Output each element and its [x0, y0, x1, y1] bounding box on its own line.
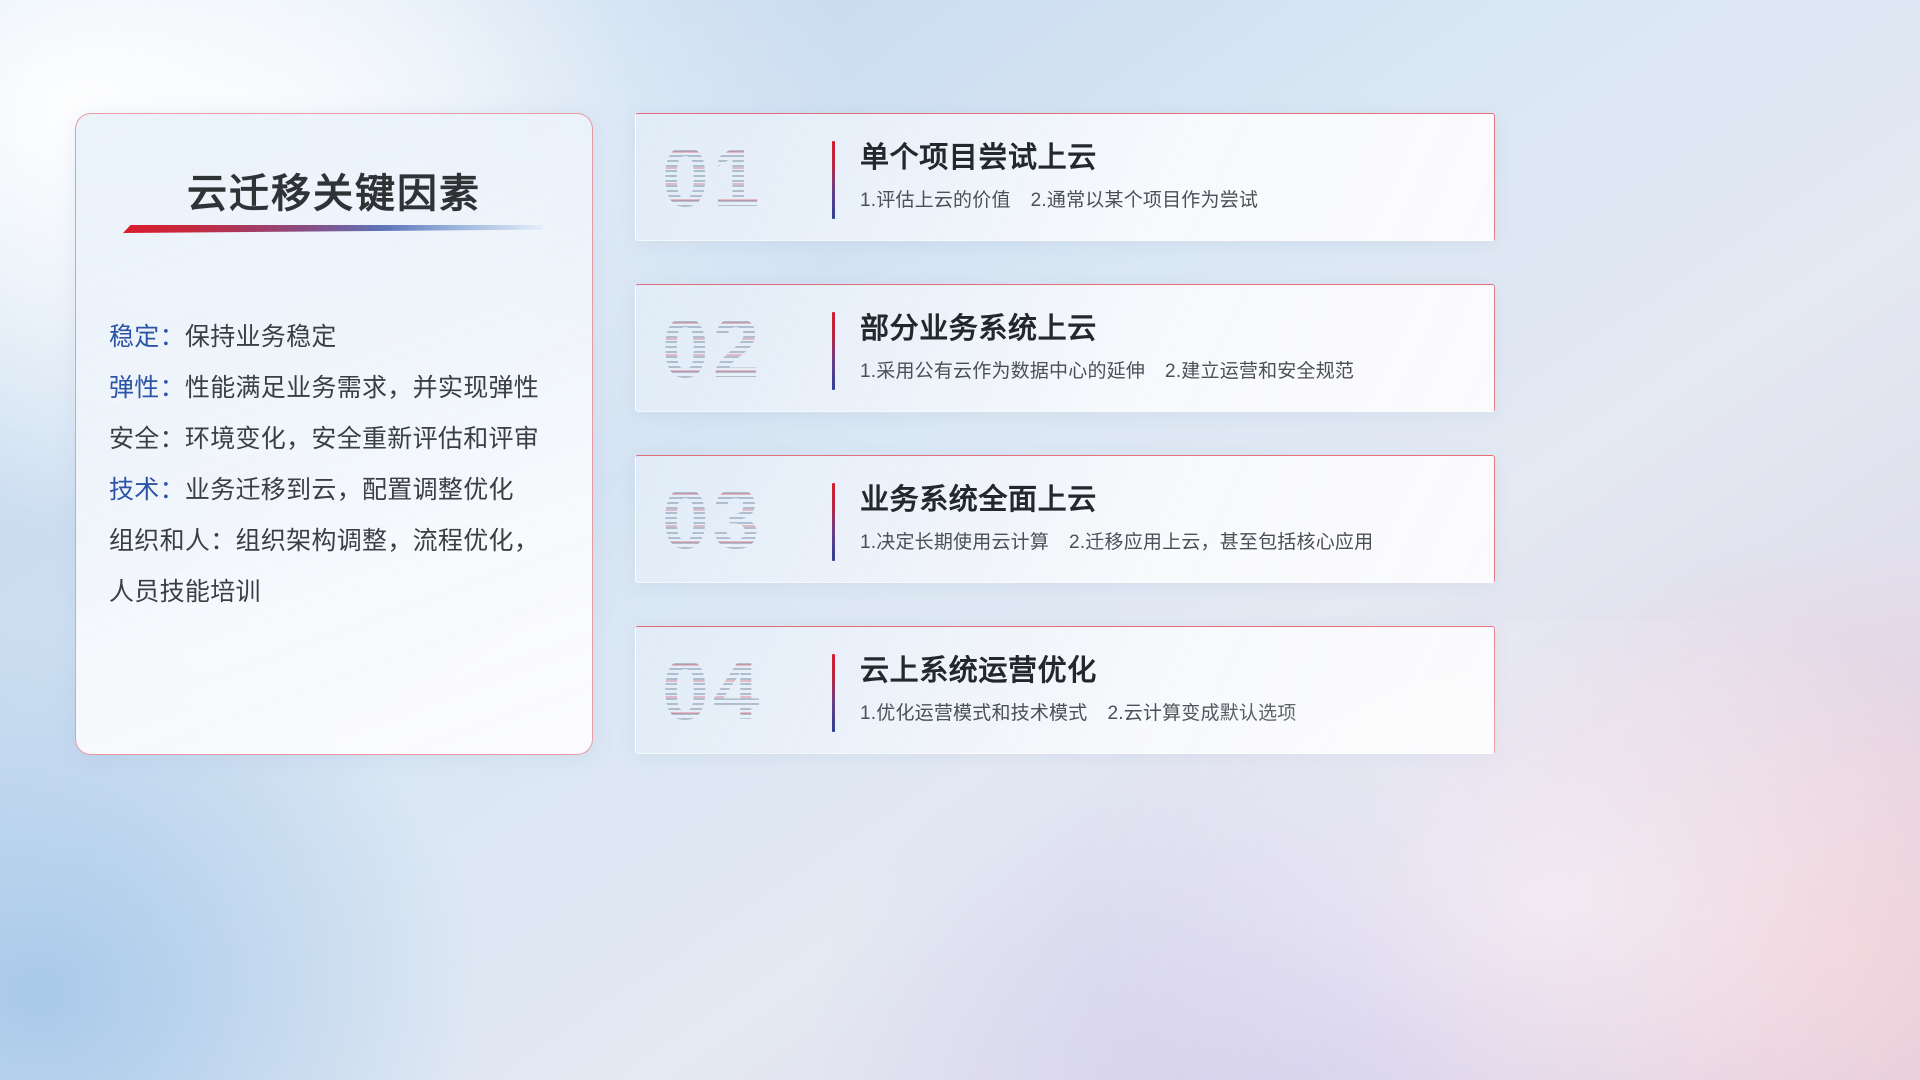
migration-step-card[interactable]: 0303业务系统全面上云1.决定长期使用云计算2.迁移应用上云，甚至包括核心应用 — [635, 455, 1495, 583]
step-detail-point-1: 1.采用公有云作为数据中心的延伸 — [860, 361, 1145, 382]
step-title: 部分业务系统上云 — [860, 309, 1474, 349]
migration-step-card[interactable]: 0404云上系统运营优化1.优化运营模式和技术模式2.云计算变成默认选项 — [635, 626, 1495, 754]
step-number-watermark-tint: 01 — [662, 135, 763, 219]
page-title: 云迁移关键因素 — [76, 161, 592, 219]
key-factor-line: 弹性：性能满足业务需求，并实现弹性 — [109, 363, 570, 414]
key-factors-list: 稳定：保持业务稳定弹性：性能满足业务需求，并实现弹性安全：环境变化，安全重新评估… — [109, 312, 570, 618]
title-underline-accent — [123, 225, 543, 233]
key-factor-line: 安全：环境变化，安全重新评估和评审 — [109, 414, 570, 465]
step-number-watermark: 03 — [662, 477, 763, 561]
step-divider-accent — [832, 141, 835, 219]
step-divider-accent — [832, 483, 835, 561]
key-factor-description: 环境变化，安全重新评估和评审 — [185, 425, 539, 453]
step-detail-line: 1.决定长期使用云计算2.迁移应用上云，甚至包括核心应用 — [860, 529, 1474, 556]
step-detail-line: 1.评估上云的价值2.通常以某个项目作为尝试 — [860, 187, 1474, 214]
step-text-block: 业务系统全面上云1.决定长期使用云计算2.迁移应用上云，甚至包括核心应用 — [860, 480, 1474, 556]
step-divider-accent — [832, 654, 835, 732]
step-text-block: 单个项目尝试上云1.评估上云的价值2.通常以某个项目作为尝试 — [860, 138, 1474, 214]
key-factors-panel: 云迁移关键因素 稳定：保持业务稳定弹性：性能满足业务需求，并实现弹性安全：环境变… — [75, 113, 593, 755]
step-number-watermark-tint: 03 — [662, 477, 763, 561]
migration-step-card[interactable]: 0101单个项目尝试上云1.评估上云的价值2.通常以某个项目作为尝试 — [635, 113, 1495, 241]
step-detail-point-2: 2.建立运营和安全规范 — [1165, 361, 1354, 382]
slide-canvas: 云迁移关键因素 稳定：保持业务稳定弹性：性能满足业务需求，并实现弹性安全：环境变… — [0, 0, 1920, 1080]
step-number-watermark-tint: 02 — [662, 306, 763, 390]
key-factor-line: 技术：业务迁移到云，配置调整优化 — [109, 465, 570, 516]
step-detail-point-2: 2.云计算变成默认选项 — [1107, 703, 1296, 724]
step-detail-line: 1.采用公有云作为数据中心的延伸2.建立运营和安全规范 — [860, 358, 1474, 385]
key-factor-label: 技术： — [109, 476, 185, 504]
step-number-watermark: 01 — [662, 135, 763, 219]
key-factor-description: 性能满足业务需求，并实现弹性 — [185, 374, 539, 402]
step-text-block: 部分业务系统上云1.采用公有云作为数据中心的延伸2.建立运营和安全规范 — [860, 309, 1474, 385]
step-number-watermark: 04 — [662, 648, 763, 732]
key-factor-description: 业务迁移到云，配置调整优化 — [185, 476, 514, 504]
key-factor-description: 人员技能培训 — [109, 578, 261, 606]
step-title: 云上系统运营优化 — [860, 651, 1474, 691]
key-factor-label: 弹性： — [109, 374, 185, 402]
migration-steps-list: 0101单个项目尝试上云1.评估上云的价值2.通常以某个项目作为尝试0202部分… — [635, 113, 1495, 754]
key-factor-line: 组织和人：组织架构调整，流程优化， — [109, 516, 570, 567]
step-detail-point-1: 1.评估上云的价值 — [860, 190, 1011, 211]
step-title: 单个项目尝试上云 — [860, 138, 1474, 178]
key-factor-line: 人员技能培训 — [109, 567, 570, 618]
key-factor-label: 组织和人： — [109, 527, 236, 555]
step-divider-accent — [832, 312, 835, 390]
step-detail-point-2: 2.迁移应用上云，甚至包括核心应用 — [1069, 532, 1373, 553]
step-text-block: 云上系统运营优化1.优化运营模式和技术模式2.云计算变成默认选项 — [860, 651, 1474, 727]
key-factor-label: 稳定： — [109, 323, 185, 351]
step-detail-point-2: 2.通常以某个项目作为尝试 — [1031, 190, 1258, 211]
key-factor-line: 稳定：保持业务稳定 — [109, 312, 570, 363]
step-detail-line: 1.优化运营模式和技术模式2.云计算变成默认选项 — [860, 700, 1474, 727]
key-factor-description: 组织架构调整，流程优化， — [236, 527, 540, 555]
step-number-watermark-tint: 04 — [662, 648, 763, 732]
step-number-watermark: 02 — [662, 306, 763, 390]
step-detail-point-1: 1.优化运营模式和技术模式 — [860, 703, 1087, 724]
migration-step-card[interactable]: 0202部分业务系统上云1.采用公有云作为数据中心的延伸2.建立运营和安全规范 — [635, 284, 1495, 412]
key-factor-description: 保持业务稳定 — [185, 323, 337, 351]
key-factor-label: 安全： — [109, 425, 185, 453]
step-title: 业务系统全面上云 — [860, 480, 1474, 520]
step-detail-point-1: 1.决定长期使用云计算 — [860, 532, 1049, 553]
